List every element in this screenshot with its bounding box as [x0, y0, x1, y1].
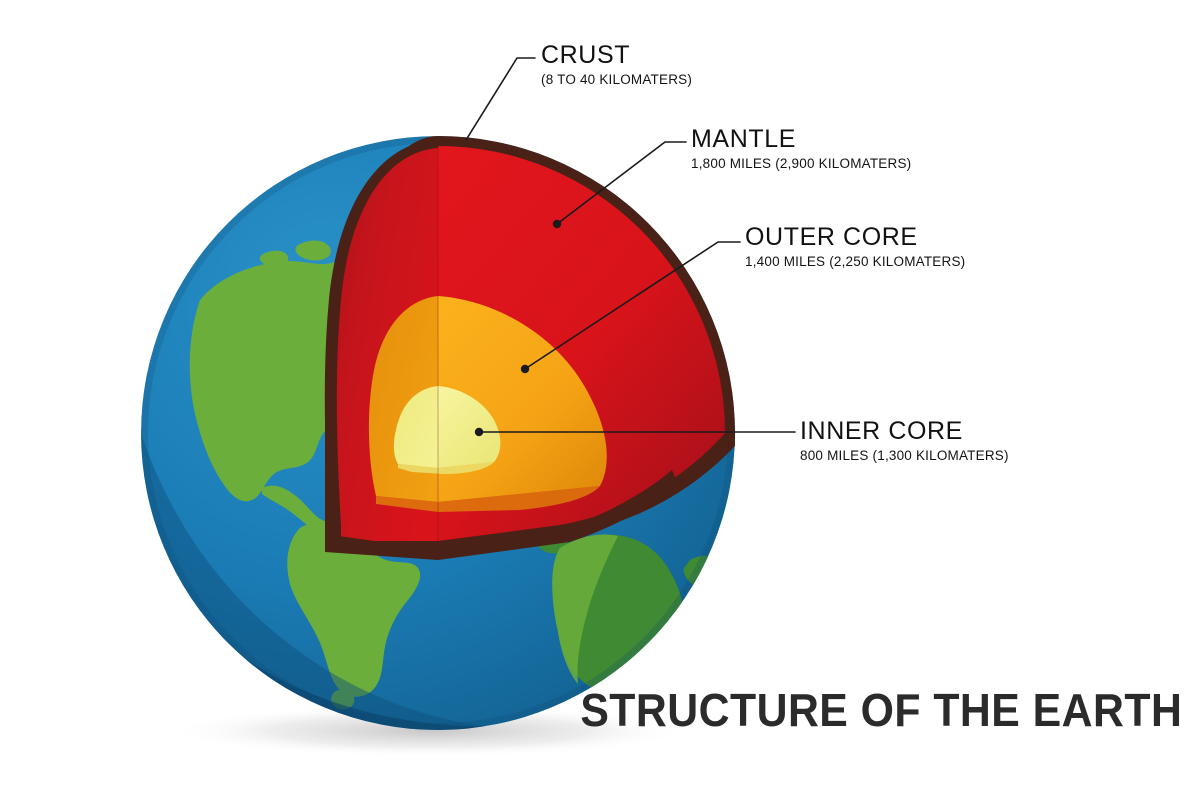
label-inner-core: INNER CORE 800 MILES (1,300 KILOMATERS)	[800, 418, 1009, 463]
label-outer-core-title: OUTER CORE	[745, 224, 965, 250]
label-mantle: MANTLE 1,800 MILES (2,900 KILOMATERS)	[691, 126, 911, 171]
label-inner-core-title: INNER CORE	[800, 418, 1009, 444]
leader-dot-outer-core	[521, 365, 529, 373]
page-title: STRUCTURE OF THE EARTH	[580, 683, 1182, 737]
label-crust-title: CRUST	[541, 42, 692, 68]
label-crust-detail: (8 TO 40 KILOMATERS)	[541, 72, 692, 87]
label-outer-core: OUTER CORE 1,400 MILES (2,250 KILOMATERS…	[745, 224, 965, 269]
label-inner-core-detail: 800 MILES (1,300 KILOMATERS)	[800, 448, 1009, 463]
earth-cutaway-illustration	[0, 0, 1200, 795]
label-crust: CRUST (8 TO 40 KILOMATERS)	[541, 42, 692, 87]
label-outer-core-detail: 1,400 MILES (2,250 KILOMATERS)	[745, 254, 965, 269]
label-mantle-detail: 1,800 MILES (2,900 KILOMATERS)	[691, 156, 911, 171]
label-mantle-title: MANTLE	[691, 126, 911, 152]
leader-line-crust	[466, 58, 535, 140]
leader-dot-inner-core	[475, 428, 483, 436]
leader-dot-mantle	[553, 220, 561, 228]
diagram-canvas: CRUST (8 TO 40 KILOMATERS) MANTLE 1,800 …	[0, 0, 1200, 795]
